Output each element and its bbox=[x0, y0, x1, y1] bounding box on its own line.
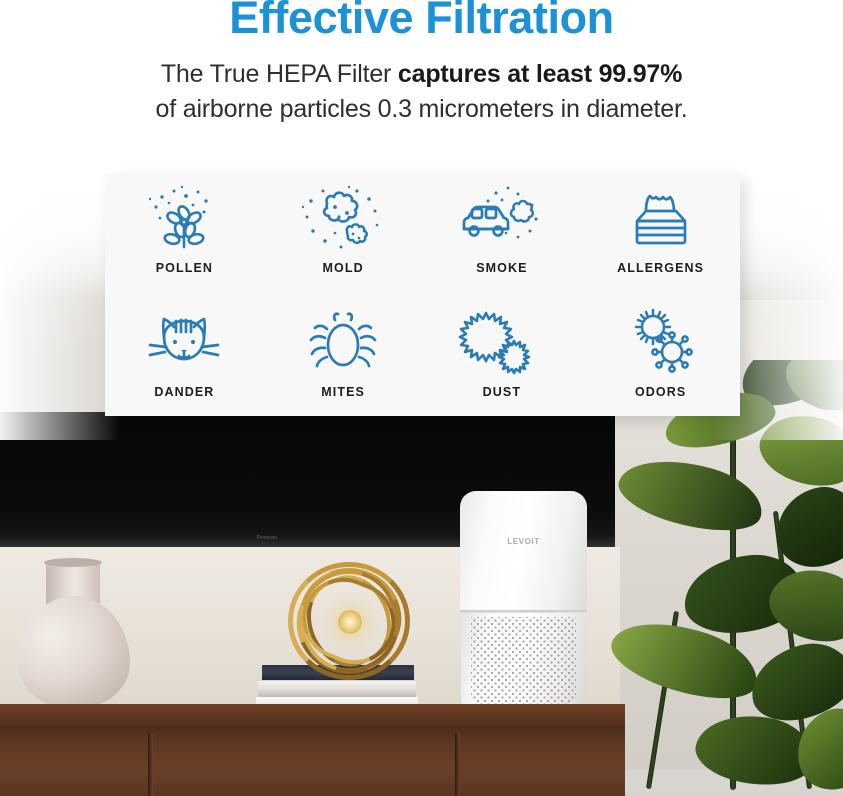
icon-label-mold: MOLD bbox=[323, 261, 364, 275]
credenza-body bbox=[0, 726, 625, 796]
grid-cell-smoke: SMOKE bbox=[423, 173, 582, 295]
page-title: Effective Filtration bbox=[0, 0, 843, 44]
icon-label-mites: MITES bbox=[321, 385, 365, 399]
purifier-brand-label: LEVOIT bbox=[460, 537, 587, 546]
vase-body bbox=[18, 596, 130, 708]
icon-label-pollen: POLLEN bbox=[156, 261, 213, 275]
subtitle-line-1: The True HEPA Filter captures at least 9… bbox=[0, 57, 843, 92]
icon-label-odors: ODORS bbox=[635, 385, 686, 399]
dust-particle-icon bbox=[456, 307, 548, 379]
icon-label-dust: DUST bbox=[483, 385, 521, 399]
plant-leaf bbox=[612, 446, 769, 544]
filtration-targets-panel: POLLEN bbox=[105, 173, 740, 416]
icon-label-smoke: SMOKE bbox=[476, 261, 527, 275]
dust-mite-icon bbox=[297, 307, 389, 379]
purifier-upper-body bbox=[460, 491, 587, 612]
mold-spore-cloud-icon bbox=[297, 185, 389, 255]
grid-cell-dander: DANDER bbox=[105, 295, 264, 417]
fiddle-leaf-fig-plant bbox=[600, 360, 843, 796]
filtration-icon-grid: POLLEN bbox=[105, 173, 740, 416]
ceramic-vase bbox=[18, 560, 130, 708]
cat-face-icon bbox=[138, 307, 230, 379]
grid-cell-dust: DUST bbox=[423, 295, 582, 417]
credenza-seam bbox=[148, 733, 153, 796]
car-exhaust-smoke-icon bbox=[456, 185, 548, 255]
subtitle-bold-text: captures at least 99.97% bbox=[398, 60, 682, 88]
grid-cell-mold: MOLD bbox=[264, 173, 423, 295]
grid-cell-pollen: POLLEN bbox=[105, 173, 264, 295]
grid-cell-mites: MITES bbox=[264, 295, 423, 417]
icon-label-dander: DANDER bbox=[154, 385, 214, 399]
vase-rim bbox=[44, 558, 102, 567]
page-subtitle: The True HEPA Filter captures at least 9… bbox=[0, 57, 843, 127]
gold-orb-sculpture bbox=[288, 562, 410, 680]
grid-cell-allergens: ALLERGENS bbox=[581, 173, 740, 295]
orb-center-glow bbox=[338, 610, 362, 634]
pollen-flower-icon bbox=[138, 185, 230, 255]
purifier-intake-mesh bbox=[471, 617, 576, 705]
odor-molecule-icon bbox=[615, 307, 707, 379]
product-feature-graphic: Proscan LEVOIT bbox=[0, 0, 843, 796]
credenza-seam bbox=[455, 733, 460, 796]
icon-label-allergens: ALLERGENS bbox=[617, 261, 704, 275]
subtitle-line-2: of airborne particles 0.3 micrometers in… bbox=[0, 92, 843, 127]
air-purifier: LEVOIT bbox=[460, 491, 587, 717]
subtitle-plain-text: The True HEPA Filter bbox=[161, 60, 398, 88]
tv-brand-logo: Proscan bbox=[249, 534, 285, 542]
tissue-box-icon bbox=[615, 185, 707, 255]
grid-cell-odors: ODORS bbox=[581, 295, 740, 417]
